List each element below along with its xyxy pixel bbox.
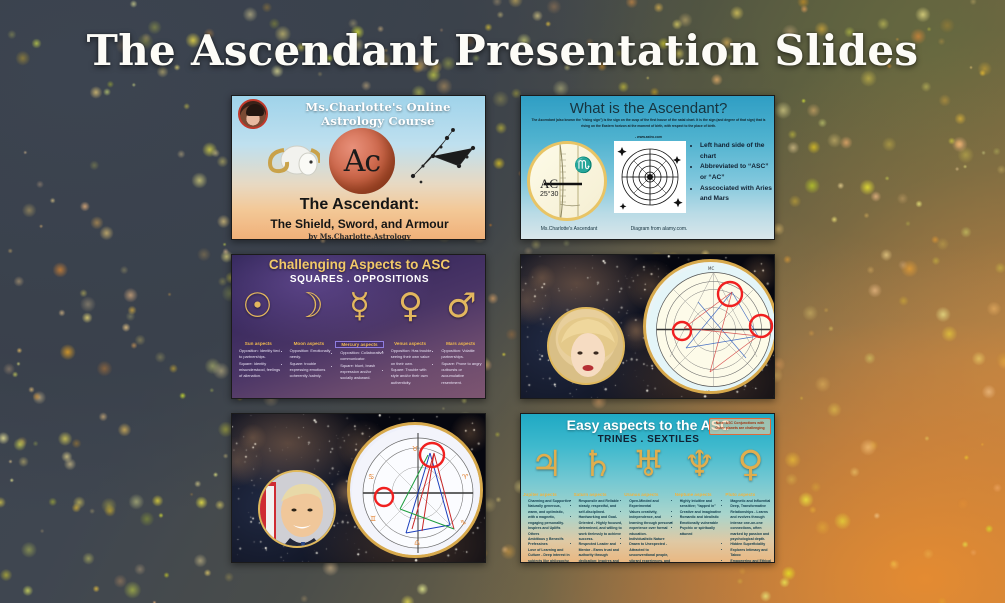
aspect-column-mercury: Mercury aspects Opposition: Collaborativ…	[335, 341, 384, 386]
aspect-column-sun: Sun aspects Opposition: Identity tied to…	[234, 341, 283, 386]
aspect-column-saturn: Saturn aspects Responsile and Reliable s…	[574, 492, 623, 563]
caption-left: Ms.Charlotte's Ascendant	[523, 226, 615, 232]
list-item: Drawn to Unexpected - Attracted to uncon…	[629, 542, 673, 563]
aspect-column-neptune: Neptune aspects Highly intuitive and sen…	[675, 492, 724, 563]
column-heading: Moon aspects	[285, 341, 334, 346]
chart-wheel-graphic: MCIC	[646, 262, 775, 394]
svg-text:♑: ♑	[460, 519, 466, 527]
aspect-column-jupiter: Jupiter aspects Charming and Supportive …	[523, 492, 572, 563]
list-item: Values creativity, independence, and lea…	[629, 510, 673, 537]
svg-text:♈: ♈	[462, 473, 469, 481]
aspect-columns: Sun aspects Opposition: Identity tied to…	[234, 341, 485, 386]
scorpio-glyph-icon: ♏	[574, 156, 593, 174]
svg-text:♊: ♊	[370, 515, 376, 523]
aspect-column-moon: Moon aspects Opposition: Emotionally nee…	[285, 341, 334, 386]
list-item: Empowering and Ethical Influence	[730, 559, 774, 563]
constellation-icon	[407, 126, 479, 190]
svg-text:MC: MC	[708, 266, 714, 271]
saturn-glyph-icon: ♄	[572, 447, 623, 483]
instructor-avatar	[238, 99, 268, 129]
donald-trump-photo	[258, 470, 336, 548]
uranus-glyph-icon: ♅	[623, 447, 674, 483]
natal-chart-wheel: ♋♈ ♊♑ ♉♎	[347, 422, 483, 558]
definition-paragraph: The Ascendant (also known the "rising si…	[527, 118, 770, 130]
page-title: The Ascendant Presentation Slides	[0, 26, 1005, 75]
svg-text:♋: ♋	[368, 473, 374, 481]
ascendant-degree: 25°30	[540, 191, 558, 198]
note-badge: Note: ASC Conjunctions with Outer planet…	[709, 418, 771, 435]
slides-gallery-page: The Ascendant Presentation Slides Ms.Cha…	[0, 0, 1005, 603]
slide-challenging-aspects[interactable]: Challenging Aspects to ASC SQUARES . OPP…	[231, 254, 486, 399]
jupiter-glyph-icon: ♃	[521, 447, 572, 483]
column-heading: Jupiter aspects	[523, 492, 572, 497]
list-item: Opposition: Emotionally needy.	[290, 348, 334, 361]
marilyn-monroe-photo	[547, 307, 625, 385]
list-item: Square: Trouble with style and/or their …	[391, 367, 435, 386]
list-item: Deep, Transformative Relationships - Lea…	[730, 504, 774, 542]
aspect-column-venus: Venus aspects Opposition: Has trouble se…	[386, 341, 435, 386]
column-heading: Sun aspects	[234, 341, 283, 346]
list-item: Opposition: Collaborative communicator.	[340, 350, 384, 363]
list-item: Asscociated with Aries and Mars	[700, 184, 773, 205]
slide-title: What is the Ascendant?	[521, 100, 775, 117]
ascendant-closeup-image: AC 25°30 ♏	[527, 141, 607, 221]
list-item: Love of Learning and Culture - Deep inte…	[528, 548, 572, 563]
ascendant-label: AC	[540, 176, 558, 192]
sun-glyph-icon: ☉	[232, 289, 283, 323]
slide-subtitle: The Shield, Sword, and Armour	[232, 217, 486, 231]
zodiac-wheel-icon	[614, 141, 686, 213]
column-heading: Mercury aspects	[335, 341, 384, 348]
planet-glyph-row: ♃ ♄ ♅ ♆ ♀	[521, 447, 775, 483]
slide-title: The Ascendant:	[232, 196, 486, 214]
course-header: Ms.Charlotte's Online Astrology Course	[272, 100, 484, 128]
list-item: Square: trouble expressing emotions cohe…	[290, 361, 334, 380]
column-heading: Uranus aspects	[624, 492, 673, 497]
list-item: Romantic and idealistic	[680, 515, 724, 520]
slide-subtitle: SQUARES . OPPOSITIONS	[232, 274, 486, 285]
list-item: Ambitious y Benecifs Prefessines	[528, 537, 572, 548]
key-points-list: Left hand side of the chart Abbreviated …	[693, 141, 773, 205]
list-item: Opposition: Volatile partnerships.	[441, 348, 485, 361]
source-credit: - www.astro.com	[521, 135, 775, 139]
aspect-columns: Jupiter aspects Charming and Supportive …	[523, 492, 774, 563]
caption-right: Diagram from alamy.com.	[614, 226, 704, 232]
list-item: Square: Prone to angry outbursts or accu…	[441, 361, 485, 386]
planet-glyph-row: ☉ ☽ ☿ ♀ ♂	[232, 289, 486, 323]
list-item: Square: blunt, brash expression and/or s…	[340, 363, 384, 382]
natal-chart-diagram-image	[614, 141, 686, 213]
mercury-glyph-icon: ☿	[334, 289, 385, 323]
column-heading: Pluto aspects	[725, 492, 774, 497]
pluto-glyph-icon: ♀	[725, 447, 775, 483]
slide-easy-aspects[interactable]: Easy aspects to the ASC TRINES . SEXTILE…	[520, 413, 775, 563]
aspect-column-uranus: Uranus aspects Open-Minded and Experimen…	[624, 492, 673, 563]
list-item: Naturally generous, warm, and optimistic…	[528, 504, 572, 526]
list-item: Hardworking and Goal-Oriented - Highly f…	[579, 515, 623, 542]
slide-byline: by Ms.Charlotte.Astrology	[232, 232, 486, 240]
svg-text:IC: IC	[706, 390, 710, 394]
svg-text:♉: ♉	[412, 445, 418, 453]
slide-title-card[interactable]: Ms.Charlotte's Online Astrology Course A…	[231, 95, 486, 240]
column-heading: Saturn aspects	[574, 492, 623, 497]
list-item: Explores Intimacy and Taboo	[730, 548, 774, 559]
aspect-column-mars: Mars aspects Opposition: Volatile partne…	[436, 341, 485, 386]
mars-planet-icon: Ac	[329, 128, 395, 194]
list-item: Opposition: Has trouble seeing their own…	[391, 348, 435, 367]
slide-marilyn-monroe-chart[interactable]: MCIC	[520, 254, 775, 399]
column-heading: Mars aspects	[436, 341, 485, 346]
neptune-glyph-icon: ♆	[674, 447, 725, 483]
ascendant-abbrev: Ac	[329, 128, 395, 194]
list-item: Opposition: Identity tied to partnership…	[239, 348, 283, 361]
list-item: Square: Identity misunderstood, feelings…	[239, 361, 283, 380]
list-item: Psychic or spiritually attuned	[680, 526, 724, 537]
list-item: steady, respectful, and self-disciplined…	[579, 504, 623, 515]
list-item: Inspires and Uplifts Others	[528, 526, 572, 537]
list-item: Highly intuitive and sensitive; "tapped …	[680, 499, 724, 510]
column-heading: Neptune aspects	[675, 492, 724, 497]
aspect-column-pluto: Pluto aspects Magnetic and Influential D…	[725, 492, 774, 563]
aries-ram-icon	[264, 138, 320, 180]
list-item: Respected Leader and Mentor - Earns trus…	[579, 542, 623, 563]
list-item: Left hand side of the chart	[700, 141, 773, 162]
column-heading: Venus aspects	[386, 341, 435, 346]
slide-title: Challenging Aspects to ASC	[232, 257, 486, 272]
list-item: Abbreviated to “ASC” or “AC”	[700, 162, 773, 183]
venus-glyph-icon: ♀	[385, 289, 436, 323]
slides-grid: Ms.Charlotte's Online Astrology Course A…	[231, 95, 775, 563]
svg-text:♎: ♎	[414, 539, 420, 547]
slide-what-is-the-ascendant[interactable]: What is the Ascendant? The Ascendant (al…	[520, 95, 775, 240]
list-item: Open-Minded and Experimental	[629, 499, 673, 510]
slide-donald-trump-chart[interactable]: ♋♈ ♊♑ ♉♎	[231, 413, 486, 563]
chart-wheel-graphic: ♋♈ ♊♑ ♉♎	[350, 425, 483, 558]
mars-glyph-icon: ♂	[436, 289, 486, 323]
natal-chart-wheel: MCIC	[643, 259, 775, 394]
moon-glyph-icon: ☽	[283, 289, 334, 323]
